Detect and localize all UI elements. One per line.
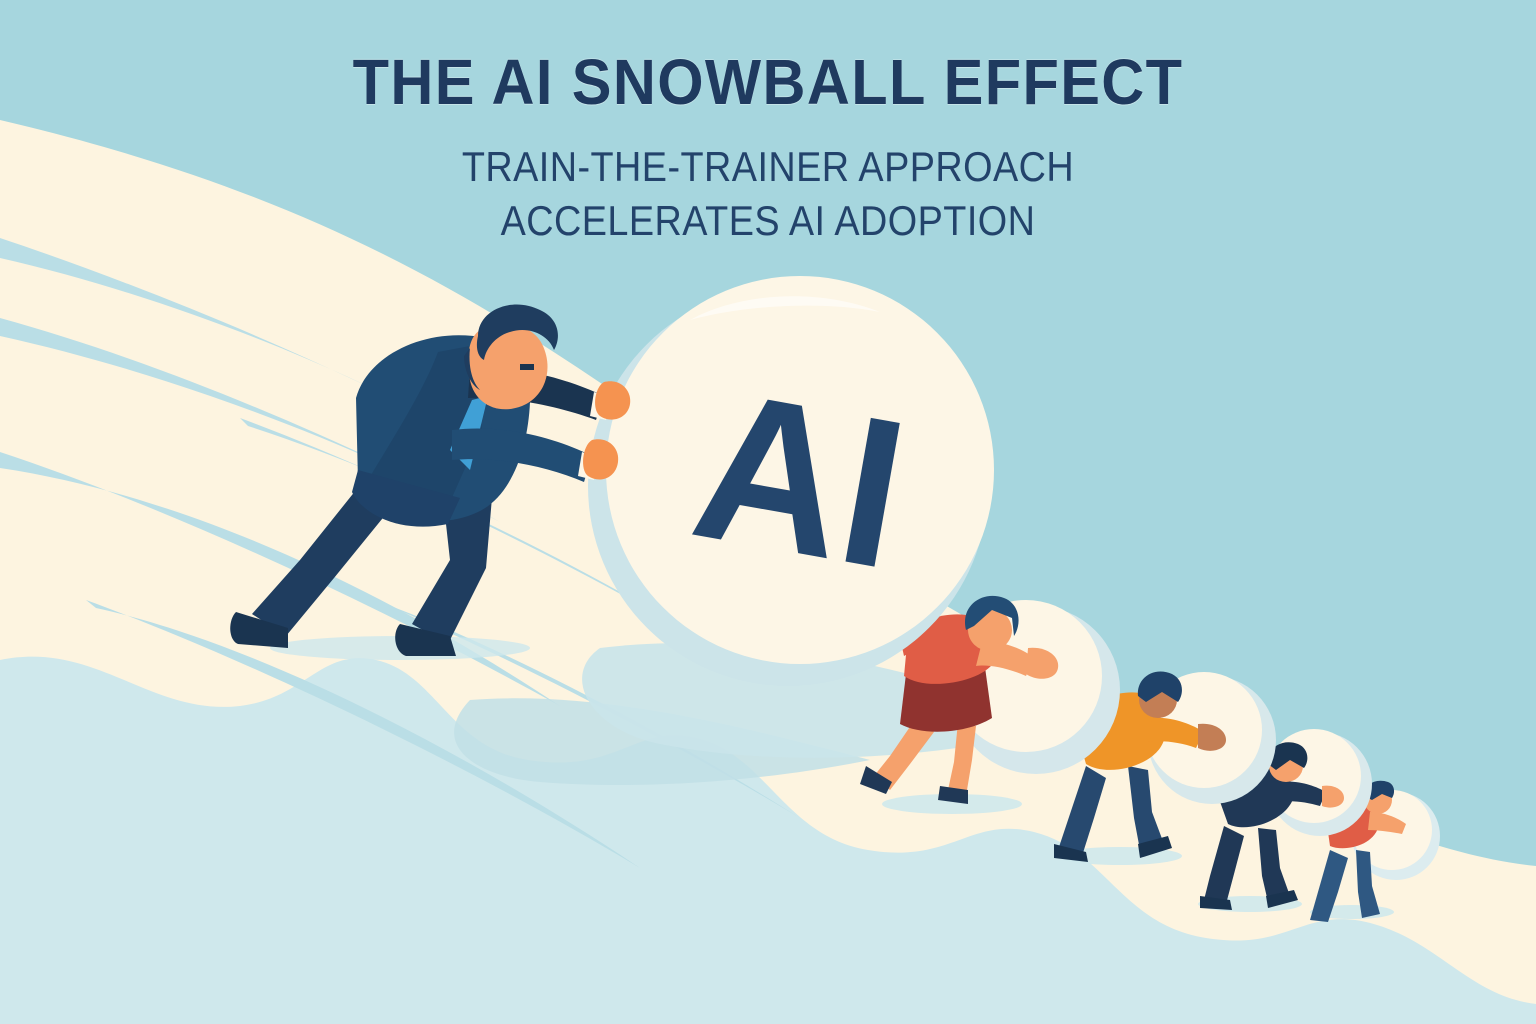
illustration-canvas: AI bbox=[0, 0, 1536, 1024]
snowball-effect-illustration: AI bbox=[0, 0, 1536, 1024]
